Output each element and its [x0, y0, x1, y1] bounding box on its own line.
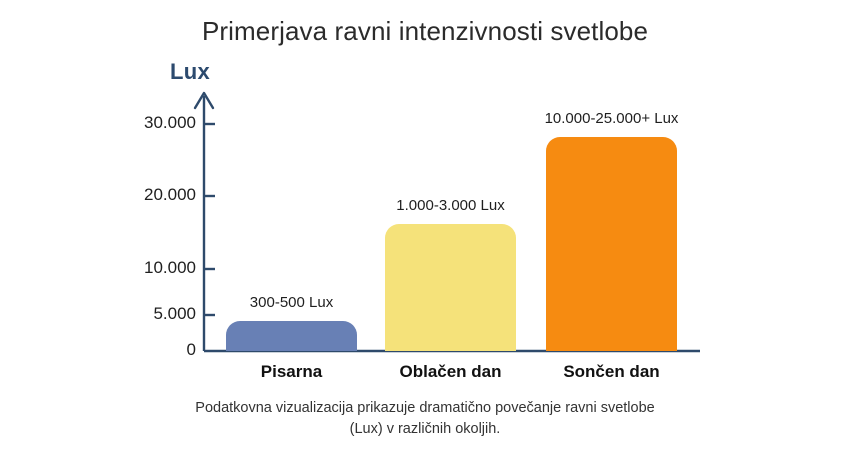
plot-area: 05.00010.00020.00030.000 300-500 LuxPisa… [0, 0, 850, 463]
bar-value-label: 1.000-3.000 Lux [325, 197, 576, 214]
chart-caption: Podatkovna vizualizacija prikazuje drama… [125, 398, 725, 440]
caption-line-2: (Lux) v različnih okoljih. [125, 419, 725, 440]
bar-value-label: 10.000-25.000+ Lux [486, 110, 737, 127]
caption-line-1: Podatkovna vizualizacija prikazuje drama… [125, 398, 725, 419]
bar-category-label: Sončen dan [501, 362, 722, 382]
y-axis-tick-label: 30.000 [116, 113, 196, 133]
bar-value-label: 300-500 Lux [166, 294, 417, 311]
bar[interactable] [546, 137, 677, 351]
chart-container: Primerjava ravni intenzivnosti svetlobe … [0, 0, 850, 463]
bar[interactable] [385, 224, 516, 351]
y-axis-tick-label: 20.000 [116, 185, 196, 205]
bar[interactable] [226, 321, 357, 351]
y-axis-tick-label: 10.000 [116, 258, 196, 278]
y-axis-ticks [204, 124, 215, 315]
y-axis-tick-label: 0 [116, 340, 196, 360]
